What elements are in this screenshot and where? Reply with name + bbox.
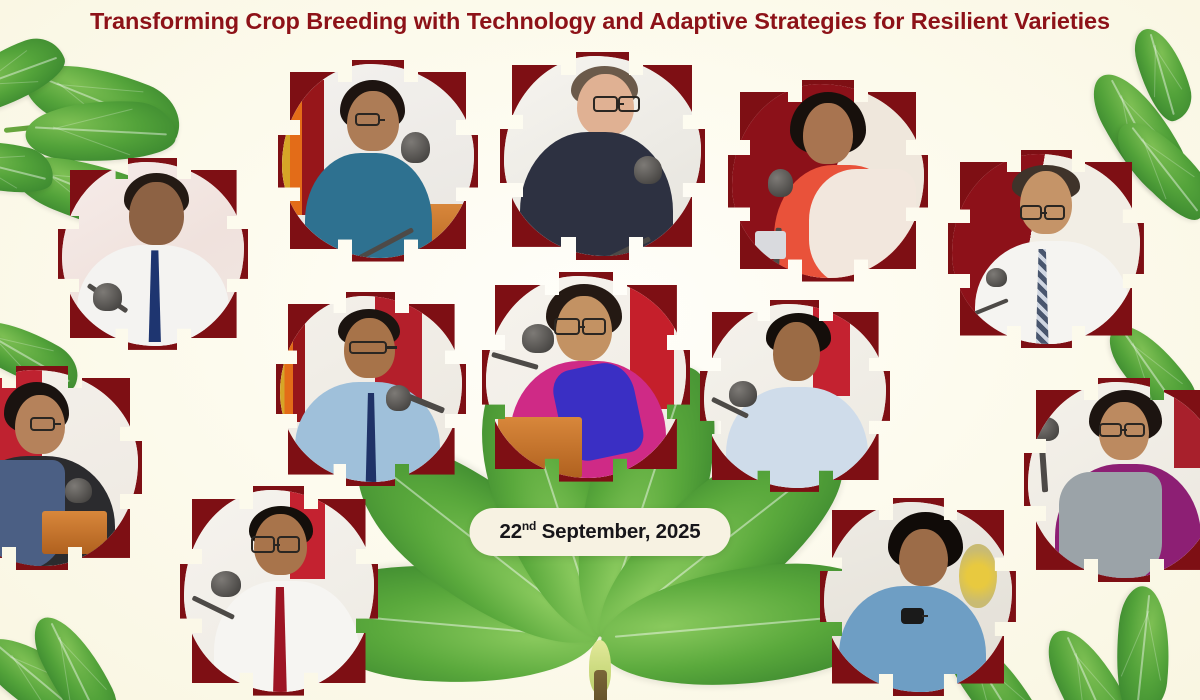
event-banner: Transforming Crop Breeding with Technolo…	[0, 0, 1200, 700]
person-head	[899, 529, 948, 586]
photo-image	[704, 304, 886, 488]
photo-image	[952, 154, 1140, 344]
microphone-head	[986, 268, 1007, 287]
photo-border	[1024, 378, 1200, 582]
microphone-head	[93, 283, 122, 311]
leaf-vein	[0, 57, 58, 92]
event-date-rest: September, 2025	[536, 520, 700, 543]
leaf-shape	[0, 30, 73, 118]
backdrop-banner	[1174, 382, 1200, 468]
photo-frame-speaker-3[interactable]	[500, 52, 705, 260]
photo-frame-speaker-6[interactable]	[0, 366, 142, 570]
photo-border	[180, 486, 378, 696]
leaf-shape	[0, 129, 59, 204]
photo-frame-speaker-2[interactable]	[278, 60, 478, 262]
eyeglasses	[1020, 205, 1043, 220]
eyeglasses-right-lens	[582, 318, 606, 334]
person-head	[1020, 171, 1073, 234]
eyeglasses-right-lens	[277, 536, 300, 552]
microphone-head	[1032, 417, 1059, 441]
eyeglasses	[593, 96, 619, 112]
photo-frame-speaker-11[interactable]	[180, 486, 378, 696]
photo-border	[728, 80, 928, 282]
page-title: Transforming Crop Breeding with Technolo…	[0, 6, 1200, 36]
photo-image	[0, 370, 138, 566]
photo-border	[0, 366, 142, 570]
person-head	[129, 182, 184, 245]
photo-image	[184, 490, 374, 692]
microphone-head	[634, 156, 662, 184]
leaf-shape	[25, 605, 129, 700]
photo-image	[282, 64, 474, 258]
photo-frame-speaker-10[interactable]	[1024, 378, 1200, 582]
event-date-day: 22	[500, 520, 522, 543]
leaf-blade	[0, 617, 124, 700]
eyeglasses	[251, 536, 276, 552]
leaf-trunk	[594, 670, 607, 700]
person-saree-drape	[1059, 472, 1163, 578]
podium	[498, 417, 582, 478]
microphone-head	[401, 132, 430, 163]
photo-frame-speaker-7[interactable]	[276, 292, 466, 486]
leaf-shape	[1129, 22, 1198, 126]
photo-frame-speaker-4[interactable]	[728, 80, 928, 282]
photo-image	[62, 162, 244, 346]
leaf-vein	[0, 644, 98, 700]
podium	[42, 511, 107, 554]
microphone-head	[211, 571, 241, 597]
photo-image	[824, 502, 1012, 692]
leaf-blade	[0, 30, 73, 118]
leaf-vein	[50, 623, 102, 700]
leaf-blade	[18, 42, 191, 163]
leaf-blade	[1110, 584, 1177, 700]
photo-border	[276, 292, 466, 486]
leaf-blade	[0, 129, 59, 204]
microphone-head	[386, 385, 411, 411]
leaf-blade	[24, 96, 177, 166]
leaf-shape	[24, 96, 177, 166]
event-date-ordinal: nd	[522, 519, 536, 533]
leaf-blade	[25, 605, 129, 700]
microphone-head	[768, 169, 793, 196]
person-head	[773, 322, 820, 381]
leaf-vein	[0, 154, 46, 179]
eyeglasses	[349, 341, 387, 354]
leaf-stem	[4, 115, 124, 133]
photo-image	[486, 276, 686, 478]
photo-border	[700, 300, 890, 492]
photo-border	[58, 158, 248, 350]
eyeglasses-right-lens	[618, 96, 640, 112]
microphone-head	[729, 381, 756, 407]
sunglasses-on-chest	[901, 608, 924, 623]
photo-image	[280, 296, 462, 482]
person-head	[803, 103, 853, 163]
leaf-vein	[1136, 595, 1150, 700]
leaf-blade	[1129, 22, 1198, 126]
leaf-vein	[38, 76, 169, 131]
eyeglasses-right-lens	[1044, 205, 1065, 220]
photo-frame-speaker-8[interactable]	[482, 272, 690, 482]
eyeglasses	[355, 113, 380, 127]
photo-image	[1028, 382, 1200, 578]
leaf-vein	[35, 127, 167, 136]
photo-border	[500, 52, 705, 260]
person-body	[214, 581, 358, 692]
person-body	[975, 241, 1129, 344]
leaf-blade	[1038, 617, 1152, 700]
leaf-shape	[1110, 584, 1177, 700]
photo-frame-speaker-9[interactable]	[700, 300, 890, 492]
photo-frame-speaker-12[interactable]	[820, 498, 1016, 696]
eyeglasses	[1099, 423, 1122, 437]
photo-image	[732, 84, 924, 278]
photo-border	[278, 60, 478, 262]
leaf-shape	[18, 42, 191, 163]
person-body	[305, 153, 432, 258]
photo-border	[948, 150, 1144, 348]
photo-border	[820, 498, 1016, 696]
microphone-head	[65, 478, 92, 503]
photo-border	[482, 272, 690, 482]
photo-frame-speaker-1[interactable]	[58, 158, 248, 350]
leaf-vein	[1066, 637, 1122, 700]
leaf-shape	[1038, 617, 1152, 700]
leaf-shape	[0, 617, 124, 700]
eyeglasses	[30, 417, 55, 431]
leaf-vein	[1150, 33, 1175, 115]
flower-arrangement	[959, 544, 997, 609]
microphone-head	[522, 324, 554, 352]
photo-frame-speaker-5[interactable]	[948, 150, 1144, 348]
eyeglasses-right-lens	[1124, 423, 1145, 437]
eyeglasses	[554, 318, 580, 334]
sri-lanka-flag	[280, 307, 305, 422]
photo-image	[504, 56, 701, 256]
event-date-badge: 22nd September, 2025	[470, 508, 731, 556]
device-tablet	[755, 231, 786, 258]
person-saree-drape	[809, 169, 917, 278]
